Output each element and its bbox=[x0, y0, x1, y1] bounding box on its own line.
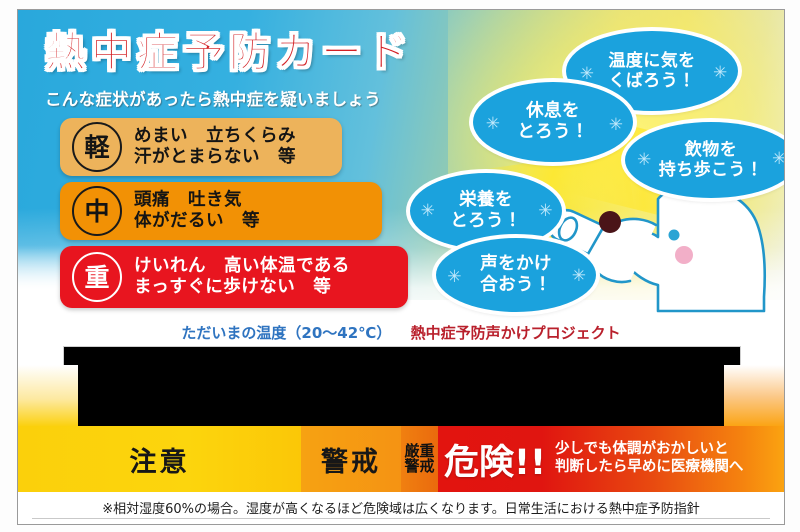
severity-line2-severe: まっすぐに歩けない 等 bbox=[134, 277, 350, 298]
severity-line1-severe: けいれん 高い体温である bbox=[134, 256, 350, 277]
bubble-line2: とろう！ bbox=[517, 122, 589, 142]
current-temperature-label: ただいまの温度（20〜42℃） bbox=[181, 324, 391, 342]
severity-row-mild: 軽 めまい 立ちくらみ 汗がとまらない 等 bbox=[60, 118, 342, 176]
alert-level-band: 注意 警戒 厳重警戒 危険!! 少しでも体調がおかしいと判断したら早めに医療機関… bbox=[18, 426, 784, 492]
sparkle-icon: ✳ bbox=[486, 116, 501, 133]
severity-row-moderate: 中 頭痛 吐き気 体がだるい 等 bbox=[60, 182, 382, 240]
sparkle-icon: ✳ bbox=[637, 152, 652, 169]
severity-text-moderate: 頭痛 吐き気 体がだるい 等 bbox=[134, 190, 260, 233]
band-right-fade bbox=[724, 365, 784, 427]
bubble-line2: 持ち歩こう！ bbox=[659, 160, 763, 180]
alert-label-warning: 警戒 bbox=[321, 440, 381, 479]
severity-badge-moderate: 中 bbox=[72, 186, 122, 236]
bubble-line1: 温度に気を bbox=[609, 51, 696, 71]
bubble-line1: 栄養を bbox=[459, 190, 513, 210]
bubble-line2: くばろう！ bbox=[609, 71, 696, 91]
bubble-text: 飲物を持ち歩こう！ bbox=[659, 140, 763, 181]
sparkle-icon: ✳ bbox=[713, 65, 728, 82]
alert-danger-sub-line1: 少しでも体調がおかしいと bbox=[555, 441, 729, 457]
sparkle-icon: ✳ bbox=[572, 268, 587, 285]
alert-label-caution: 注意 bbox=[130, 440, 190, 479]
bear-nose bbox=[599, 211, 621, 233]
bubble-line1: 飲物を bbox=[685, 140, 737, 160]
severity-badge-mild: 軽 bbox=[72, 122, 122, 172]
card-frame: 熱中症予防カード こんな症状があったら熱中症を疑いましょう 軽 めまい 立ちくら… bbox=[17, 9, 785, 525]
alert-segment-strict-warning: 厳重警戒 bbox=[401, 426, 438, 492]
bear-eye bbox=[669, 230, 680, 241]
severity-line2-moderate: 体がだるい 等 bbox=[134, 211, 260, 232]
severity-row-severe: 重 けいれん 高い体温である まっすぐに歩けない 等 bbox=[60, 246, 408, 308]
severity-line1-moderate: 頭痛 吐き気 bbox=[134, 190, 260, 211]
page-subtitle: こんな症状があったら熱中症を疑いましょう bbox=[45, 86, 381, 110]
bear-cheek bbox=[675, 246, 693, 264]
alert-label-danger: 危険!! bbox=[444, 434, 546, 485]
sparkle-icon: ✳ bbox=[580, 66, 595, 83]
severity-text-mild: めまい 立ちくらみ 汗がとまらない 等 bbox=[134, 126, 296, 169]
bubble-text: 声をかけ合おう！ bbox=[480, 254, 552, 296]
page-title: 熱中症予防カード bbox=[45, 32, 413, 73]
alert-danger-subtext: 少しでも体調がおかしいと判断したら早めに医療機関へ bbox=[555, 441, 744, 476]
bubble-line2: 合おう！ bbox=[480, 275, 552, 295]
severity-text-severe: けいれん 高い体温である まっすぐに歩けない 等 bbox=[134, 256, 350, 299]
sparkle-icon: ✳ bbox=[772, 151, 785, 168]
alert-label-strict-warning: 厳重警戒 bbox=[404, 444, 434, 475]
sparkle-icon: ✳ bbox=[447, 269, 462, 286]
sparkle-icon: ✳ bbox=[609, 117, 624, 134]
bubble-line1: 休息を bbox=[526, 101, 580, 121]
footnote: ※相対湿度60%の場合。湿度が高くなるほど危険域は広くなります。日常生活における… bbox=[18, 498, 784, 517]
alert-segment-warning: 警戒 bbox=[301, 426, 401, 492]
sparkle-icon: ✳ bbox=[421, 203, 436, 220]
alert-label-strict-line2: 警戒 bbox=[404, 457, 434, 475]
bubble-line2: とろう！ bbox=[450, 211, 522, 231]
bubble-take-nutrition: ✳ 栄養をとろう！ ✳ bbox=[410, 173, 562, 249]
temperature-display-panel bbox=[63, 346, 741, 428]
temperature-caption: ただいまの温度（20〜42℃） 熱中症予防声かけプロジェクト bbox=[18, 322, 784, 343]
bubble-text: 栄養をとろう！ bbox=[450, 190, 522, 232]
heatstroke-prevention-card: 熱中症予防カード こんな症状があったら熱中症を疑いましょう 軽 めまい 立ちくら… bbox=[0, 0, 800, 532]
bubble-text: 休息をとろう！ bbox=[517, 101, 589, 143]
severity-badge-severe: 重 bbox=[72, 252, 122, 302]
alert-segment-caution: 注意 bbox=[18, 426, 301, 492]
bubble-carry-drink: ✳ 飲物を持ち歩こう！ ✳ bbox=[625, 122, 785, 198]
alert-danger-sub-line2: 判断したら早めに医療機関へ bbox=[555, 459, 744, 475]
band-left-fade bbox=[18, 365, 78, 427]
severity-line1-mild: めまい 立ちくらみ bbox=[134, 126, 296, 147]
severity-line2-mild: 汗がとまらない 等 bbox=[134, 147, 296, 168]
bubble-call-out-each-other: ✳ 声をかけ合おう！ ✳ bbox=[436, 238, 596, 312]
alert-segment-danger: 危険!! 少しでも体調がおかしいと判断したら早めに医療機関へ bbox=[438, 426, 784, 492]
bubble-text: 温度に気をくばろう！ bbox=[609, 51, 696, 92]
bubble-take-rest: ✳ 休息をとろう！ ✳ bbox=[473, 82, 633, 162]
sparkle-icon: ✳ bbox=[538, 203, 553, 220]
footnote-divider bbox=[32, 518, 770, 519]
bubble-line1: 声をかけ bbox=[480, 254, 552, 274]
project-name-label: 熱中症予防声かけプロジェクト bbox=[411, 324, 621, 342]
